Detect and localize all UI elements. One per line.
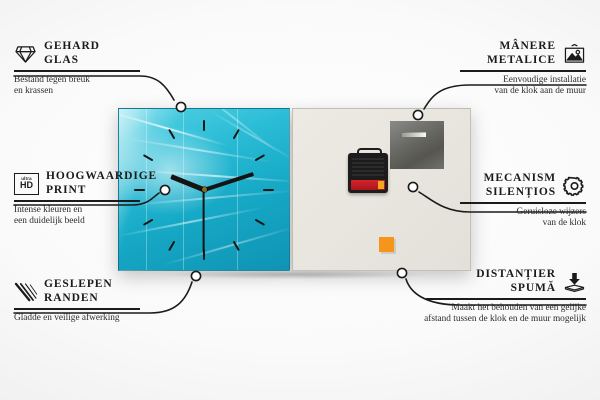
- feature-mecanism-silentios: MECANISM SILENȚIOS Geruisloze wijzers va…: [386, 172, 586, 229]
- feature-title-line: PRINT: [46, 184, 157, 198]
- feature-title-line: METALICE: [487, 54, 556, 68]
- feature-description: Maakt het behouden van een gelijke afsta…: [386, 303, 586, 326]
- feature-description: Bestand tegen breuk en krassen: [14, 75, 199, 98]
- feature-description: Geruisloze wijzers van de klok: [386, 207, 586, 230]
- quartz-mechanism-box: [348, 153, 388, 193]
- ultra-hd-badge-icon: ultra HD: [14, 173, 39, 195]
- gear-icon: [563, 176, 586, 196]
- feature-rule: [14, 308, 140, 310]
- feature-rule: [14, 70, 140, 72]
- feature-title-line: SILENȚIOS: [484, 186, 556, 200]
- feature-title-line: MÂNERE: [487, 40, 556, 54]
- feature-description: Gladde en veilige afwerking: [14, 313, 214, 324]
- feature-description: Eenvoudige installatie van de klok aan d…: [386, 75, 586, 98]
- infographic-stage: GEHARD GLAS Bestand tegen breuk en krass…: [0, 0, 600, 400]
- feature-distantier-spuma: DISTANȚIER SPUMĂ Maakt het behouden van …: [386, 268, 586, 325]
- feature-geslepen-randen: GESLEPEN RANDEN Gladde en veilige afwerk…: [14, 278, 214, 324]
- feature-title-line: RANDEN: [44, 292, 113, 306]
- diagonal-lines-icon: [14, 282, 37, 302]
- feature-title-line: GEHARD: [44, 40, 100, 54]
- feature-rule: [426, 298, 586, 300]
- diamond-icon: [14, 44, 37, 64]
- spacer-arrow-icon: [563, 272, 586, 292]
- feature-description: Intense kleuren en een duidelijk beeld: [14, 205, 214, 228]
- feature-rule: [460, 70, 586, 72]
- battery: [351, 180, 385, 190]
- feature-title-line: GESLEPEN: [44, 278, 113, 292]
- picture-frame-icon: [563, 44, 586, 64]
- feature-title-line: MECANISM: [484, 172, 556, 186]
- metal-hanger: [390, 121, 444, 169]
- feature-rule: [460, 202, 586, 204]
- foam-spacer: [379, 237, 394, 252]
- feature-title-line: DISTANȚIER: [476, 268, 556, 282]
- feature-gehard-glas: GEHARD GLAS Bestand tegen breuk en krass…: [14, 40, 199, 97]
- feature-title-line: GLAS: [44, 54, 100, 68]
- hd-badge-large-text: HD: [20, 181, 33, 190]
- feature-manere-metalice: MÂNERE METALICE Eenvoudige installatie v…: [386, 40, 586, 97]
- feature-hoogwaardige-print: ultra HD HOOGWAARDIGE PRINT Intense kleu…: [14, 170, 214, 227]
- feature-rule: [14, 200, 140, 202]
- feature-title-line: SPUMĂ: [476, 282, 556, 296]
- feature-title-line: HOOGWAARDIGE: [46, 170, 157, 184]
